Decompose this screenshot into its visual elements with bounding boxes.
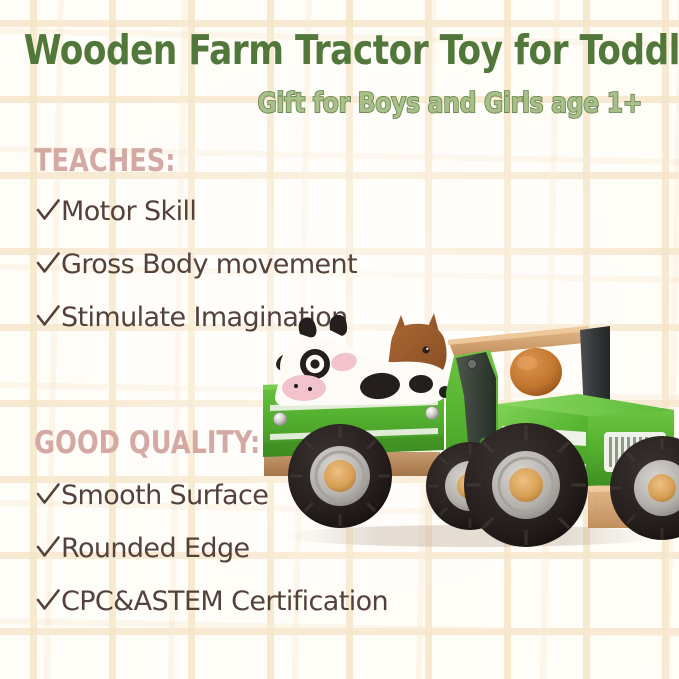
list-item: Rounded Edge bbox=[35, 531, 250, 562]
cow-eye bbox=[310, 359, 319, 368]
list-item: Motor Skill bbox=[35, 194, 196, 225]
driver-figure bbox=[510, 348, 562, 396]
animal-figures bbox=[275, 313, 451, 406]
checkmark-icon bbox=[35, 587, 61, 613]
checkmark-icon bbox=[35, 197, 61, 223]
cow-horn-right bbox=[330, 315, 348, 336]
driver-head-highlight bbox=[517, 356, 537, 370]
horse-eye bbox=[422, 346, 429, 353]
wheel-trailer bbox=[288, 424, 392, 528]
list-item-label: Rounded Edge bbox=[61, 535, 250, 562]
cow-nostril-left bbox=[294, 384, 298, 388]
cage-screw-top bbox=[467, 359, 476, 368]
product-image-wooden-tractor: Tractor bbox=[258, 300, 679, 552]
checkmark-icon bbox=[35, 250, 61, 276]
list-item: CPC&ASTEM Certification bbox=[35, 584, 388, 615]
wheel-hub bbox=[509, 468, 543, 502]
cow-nostril-right bbox=[308, 387, 312, 391]
list-item-label: Smooth Surface bbox=[61, 482, 268, 509]
cow-horn-left bbox=[299, 317, 317, 338]
list-item: Gross Body movement bbox=[35, 247, 357, 278]
checkmark-icon bbox=[35, 303, 61, 329]
checkmark-icon bbox=[35, 481, 61, 507]
horse-eye-highlight bbox=[426, 348, 428, 350]
trailer-screw-right bbox=[426, 407, 439, 420]
list-item-label: Motor Skill bbox=[61, 198, 196, 225]
checkmark-icon bbox=[35, 534, 61, 560]
page-title: Wooden Farm Tractor Toy for Toddlers bbox=[24, 30, 655, 71]
trailer-screw-left bbox=[274, 413, 287, 426]
cow-spot-2 bbox=[409, 375, 433, 393]
driver-head bbox=[510, 348, 562, 396]
wheel-hub bbox=[324, 460, 356, 492]
list-item: Smooth Surface bbox=[35, 478, 268, 509]
section-heading-good-quality: GOOD QUALITY: bbox=[34, 428, 260, 459]
list-item-label: CPC&ASTEM Certification bbox=[61, 588, 388, 615]
page-subtitle: Gift for Boys and Girls age 1+ bbox=[258, 89, 643, 117]
list-item-label: Gross Body movement bbox=[61, 251, 357, 278]
cow-muzzle bbox=[282, 375, 326, 401]
wheel-hub bbox=[648, 474, 676, 502]
product-marketing-poster: Wooden Farm Tractor Toy for Toddlers Gif… bbox=[0, 0, 679, 679]
section-heading-teaches: TEACHES: bbox=[34, 146, 175, 177]
wheel-tractor-front-left bbox=[464, 423, 588, 547]
